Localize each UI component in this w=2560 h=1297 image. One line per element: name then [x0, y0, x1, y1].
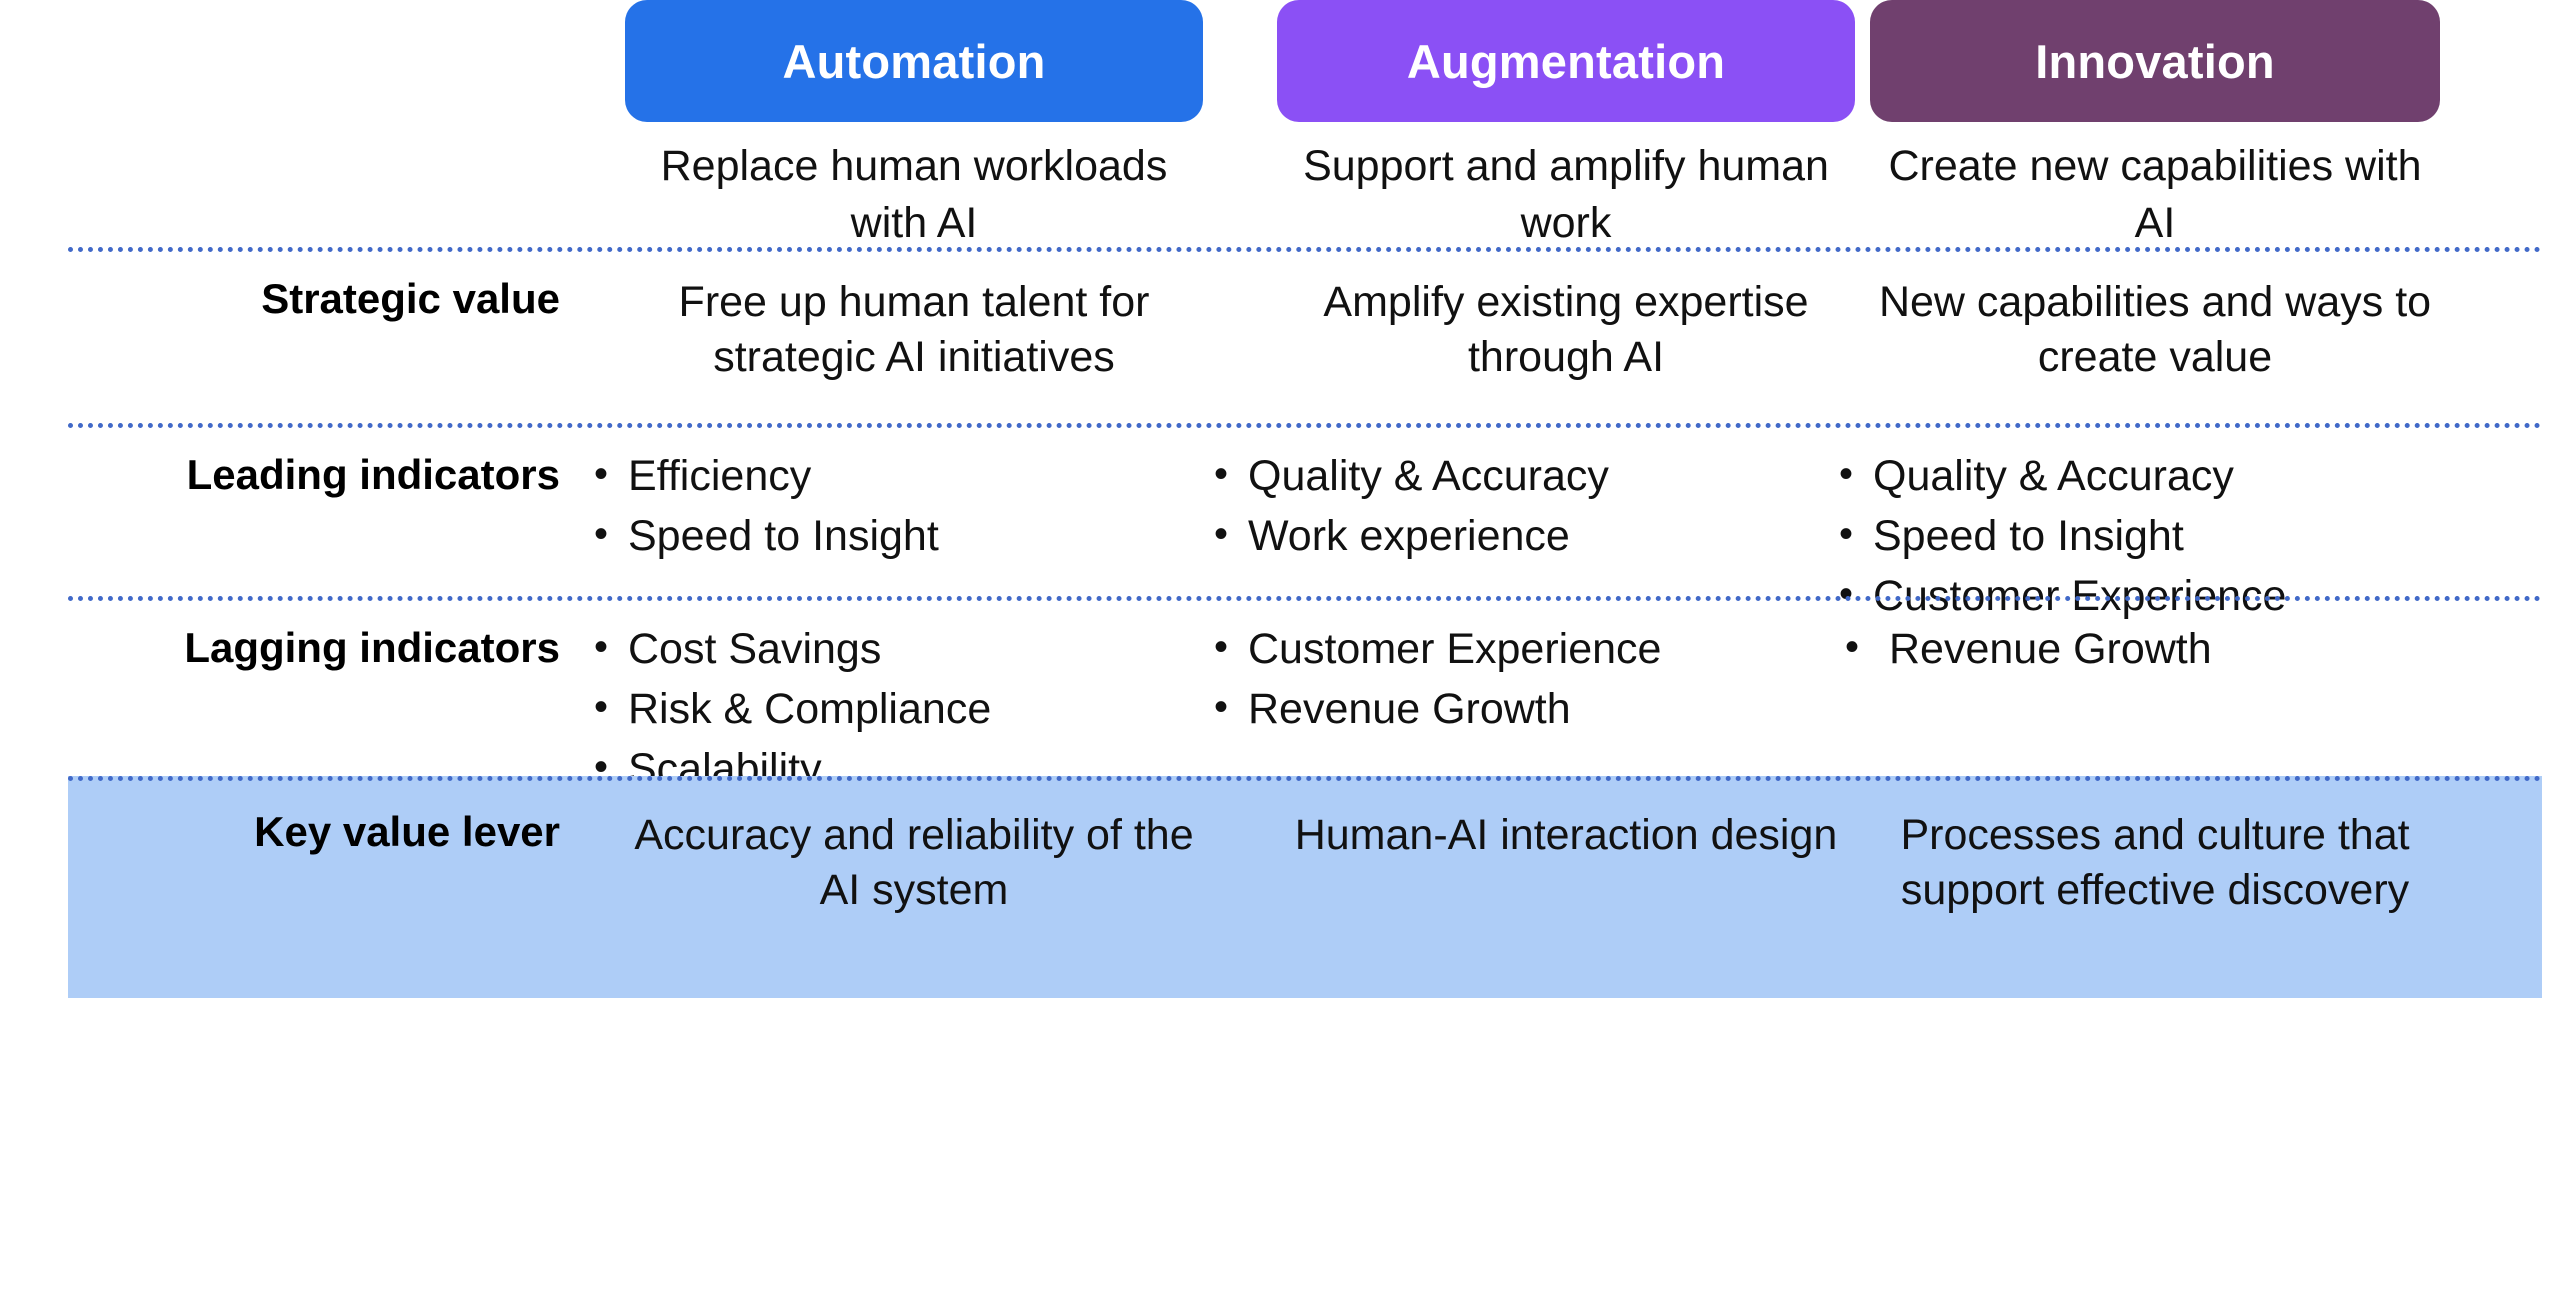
row-divider — [68, 423, 2542, 428]
column-subtitle-row: Replace human workloads with AI Support … — [0, 122, 2560, 247]
header-label-spacer — [0, 0, 590, 122]
list-item: Efficiency — [590, 449, 1168, 505]
column-subtitle-innovation: Create new capabilities with AI — [1870, 138, 2440, 252]
column-header-augmentation: Augmentation — [1277, 0, 1855, 122]
cell-strategic-value-innovation: New capabilities and ways to create valu… — [1870, 247, 2440, 385]
cell-key-value-lever-automation: Accuracy and reliability of the AI syste… — [625, 776, 1203, 918]
row-label-key-value-lever: Key value lever — [0, 776, 590, 918]
table-row-strategic-value: Strategic value Free up human talent for… — [0, 247, 2560, 423]
cell-lagging-indicators-automation: Cost Savings Risk & Compliance Scalabili… — [590, 596, 1168, 802]
row-label-strategic-value: Strategic value — [0, 247, 590, 385]
table-row-lagging-indicators: Lagging indicators Cost Savings Risk & C… — [0, 596, 2560, 776]
list-item: Speed to Insight — [1835, 509, 2435, 565]
comparison-table: Automation Augmentation Innovation Repla… — [0, 0, 2560, 1297]
table-row-key-value-lever: Key value lever Accuracy and reliability… — [0, 776, 2560, 998]
cell-strategic-value-automation: Free up human talent for strategic AI in… — [625, 247, 1203, 385]
cell-lagging-indicators-augmentation: Customer Experience Revenue Growth — [1210, 596, 1788, 802]
list-item: Cost Savings — [590, 622, 1168, 678]
column-subtitle-automation: Replace human workloads with AI — [625, 138, 1203, 252]
cell-strategic-value-augmentation: Amplify existing expertise through AI — [1277, 247, 1855, 385]
row-label-lagging-indicators: Lagging indicators — [0, 596, 590, 802]
table-header-row: Automation Augmentation Innovation — [0, 0, 2560, 122]
column-header-automation: Automation — [625, 0, 1203, 122]
list-item: Speed to Insight — [590, 509, 1168, 565]
list-item: Revenue Growth — [1835, 622, 2435, 678]
list-item: Customer Experience — [1210, 622, 1788, 678]
cell-lagging-indicators-innovation: Revenue Growth — [1835, 596, 2435, 802]
column-subtitle-augmentation: Support and amplify human work — [1277, 138, 1855, 252]
table-row-leading-indicators: Leading indicators Efficiency Speed to I… — [0, 423, 2560, 596]
list-item: Quality & Accuracy — [1210, 449, 1788, 505]
column-header-innovation: Innovation — [1870, 0, 2440, 122]
list-item: Risk & Compliance — [590, 682, 1168, 738]
row-divider — [68, 596, 2542, 601]
row-divider — [68, 247, 2542, 252]
cell-key-value-lever-augmentation: Human-AI interaction design — [1277, 776, 1855, 918]
subtitle-label-spacer — [0, 138, 590, 252]
list-item: Revenue Growth — [1210, 682, 1788, 738]
cell-key-value-lever-innovation: Processes and culture that support effec… — [1870, 776, 2440, 918]
list-item: Quality & Accuracy — [1835, 449, 2435, 505]
list-item: Work experience — [1210, 509, 1788, 565]
